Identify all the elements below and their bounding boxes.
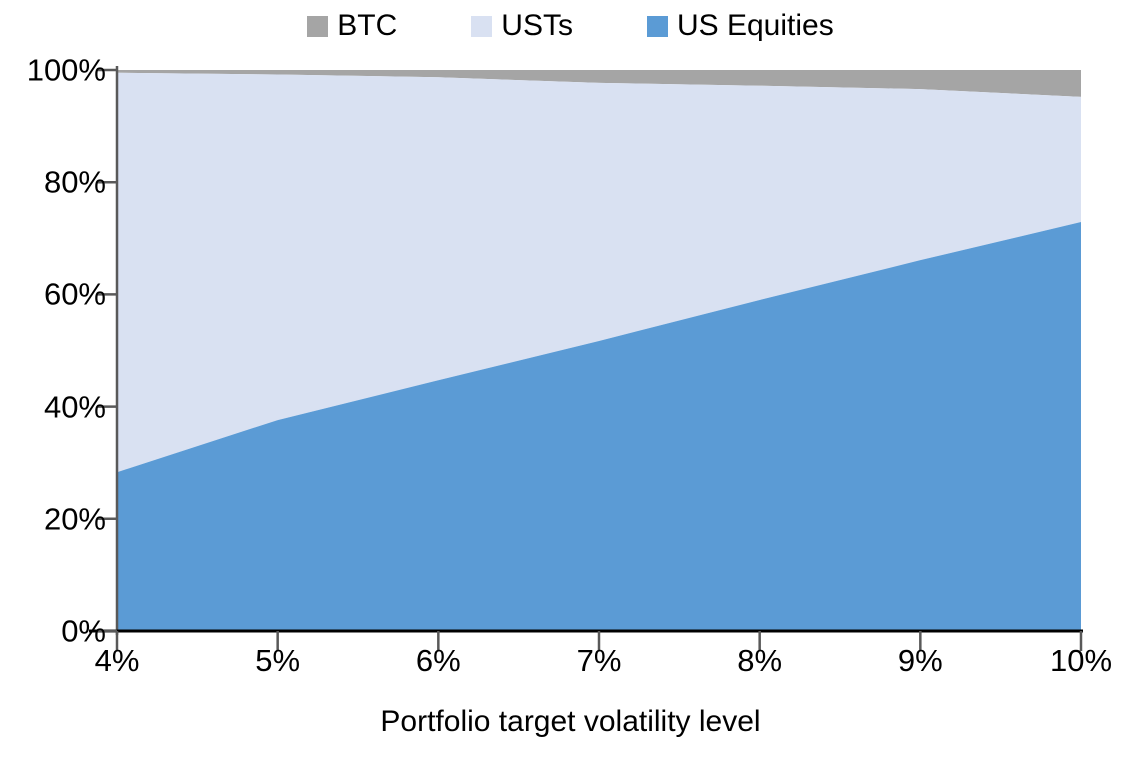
x-axis-tick-labels: 4%5%6%7%8%9%10%: [0, 0, 1141, 763]
plot-area: 0%20%40%60%80%100% 4%5%6%7%8%9%10%: [0, 0, 1141, 763]
x-tick-label: 8%: [737, 645, 782, 676]
x-tick-label: 6%: [416, 645, 461, 676]
x-axis-title: Portfolio target volatility level: [0, 707, 1141, 737]
x-tick-label: 5%: [255, 645, 300, 676]
x-tick-label: 10%: [1050, 645, 1112, 676]
x-tick-label: 7%: [577, 645, 622, 676]
x-tick-label: 9%: [898, 645, 943, 676]
stacked-area-chart: BTC USTs US Equities 0%20%40%60%80%10: [0, 0, 1141, 763]
x-tick-label: 4%: [95, 645, 140, 676]
